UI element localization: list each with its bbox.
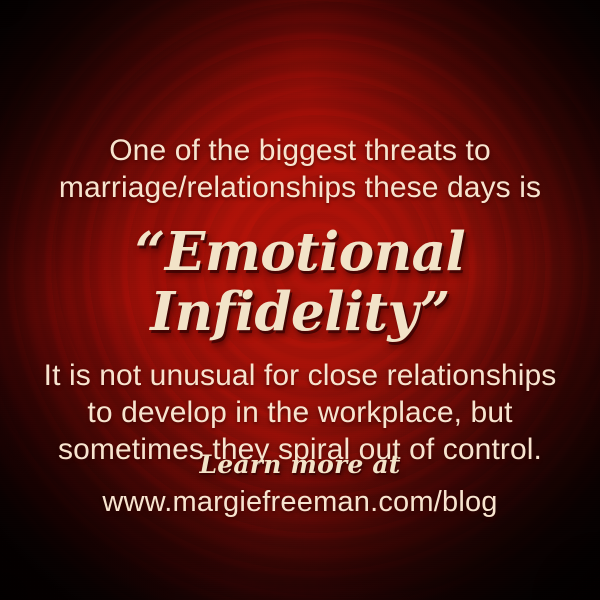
quote-poster: One of the biggest threats to marriage/r… — [0, 0, 600, 600]
body-line-1: It is not unusual for close relationship… — [20, 357, 580, 394]
learn-more-label: Learn more at — [0, 450, 600, 480]
headline-quote: “Emotional Infidelity” — [10, 222, 590, 342]
body-line-2: to develop in the workplace, but — [20, 394, 580, 431]
intro-line-2: marriage/relationships these days is — [30, 169, 570, 206]
poster-content: One of the biggest threats to marriage/r… — [0, 0, 600, 600]
intro-text: One of the biggest threats to marriage/r… — [30, 132, 570, 206]
site-url[interactable]: www.margiefreeman.com/blog — [0, 484, 600, 520]
poster-footer: Learn more at www.margiefreeman.com/blog — [0, 450, 600, 520]
intro-line-1: One of the biggest threats to — [30, 132, 570, 169]
